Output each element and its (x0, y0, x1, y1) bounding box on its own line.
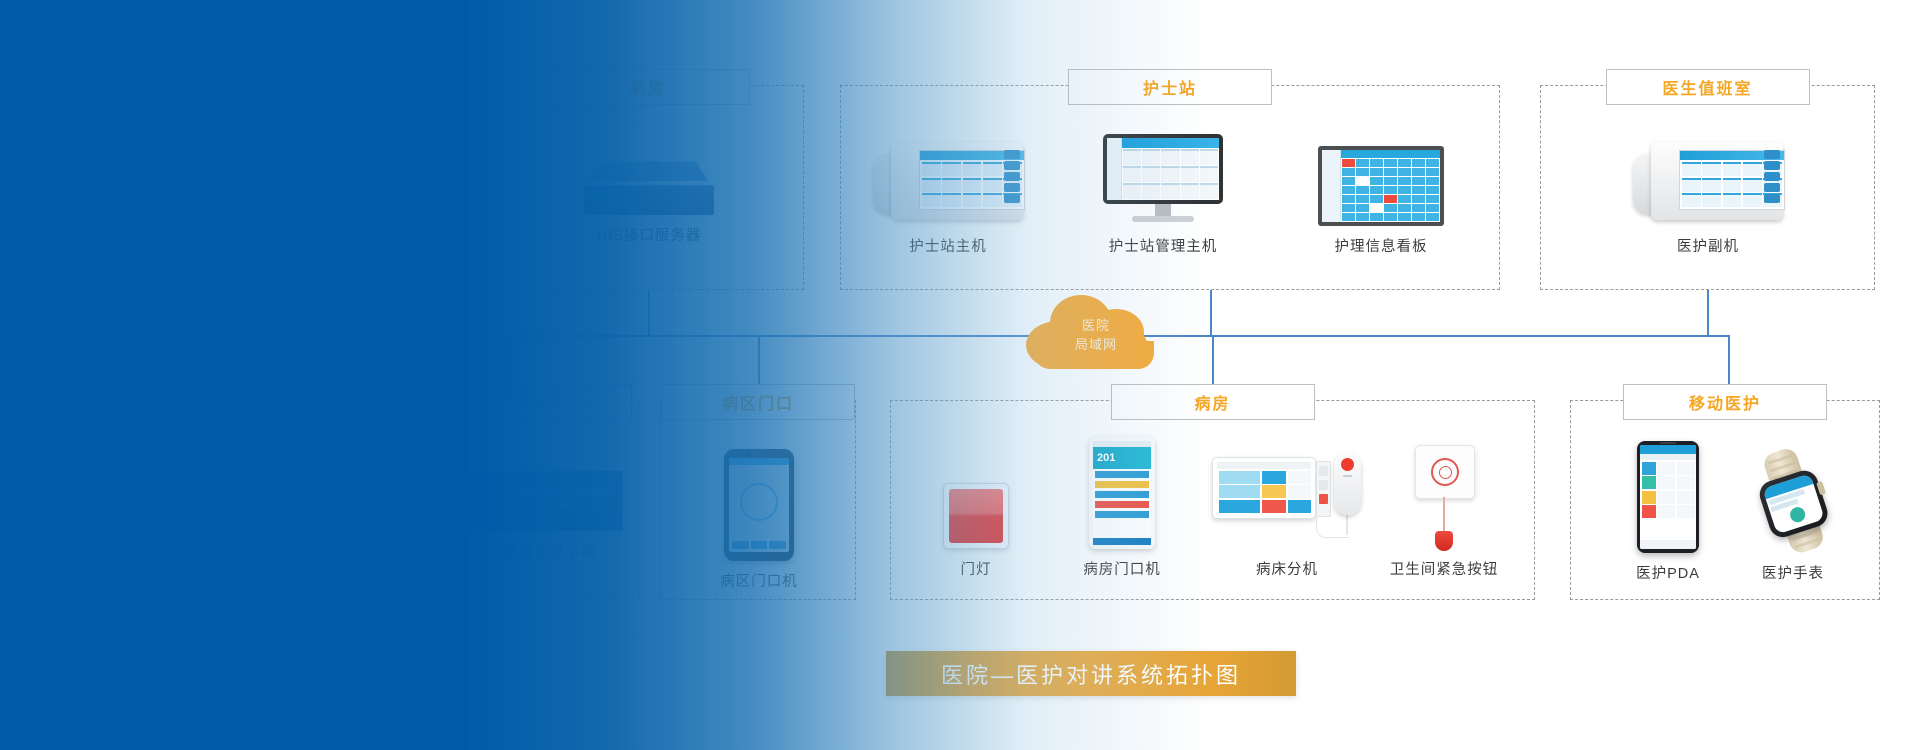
node-ward-entrance-terminal[interactable]: 病区门口机 (689, 443, 829, 591)
group-label-mobile-care: 移动医护 (1623, 384, 1827, 420)
node-caption: 病区门口机 (720, 570, 798, 591)
cloud-label-line2: 局域网 (1075, 335, 1117, 354)
node-ward-door-terminal[interactable]: 201 病房门口机 (1049, 439, 1195, 579)
group-mobile-care: 移动医护 医护PDA (1570, 400, 1880, 600)
desk-phone-terminal-icon (873, 134, 1023, 226)
group-label-server-room: 机房 (546, 69, 750, 105)
group-server-room: 机房 HIS接口服务器 (492, 85, 804, 290)
node-caption: HIS接口服务器 (597, 224, 702, 245)
node-caption: 护理信息看板 (1335, 235, 1428, 256)
connector-server-room-down (648, 290, 650, 336)
group-corridor: 走廊 走廊双面显示屏 (440, 400, 640, 600)
door-light-icon (943, 453, 1009, 549)
node-corridor-double-sided-display[interactable]: 走廊双面显示屏 (459, 459, 625, 561)
group-label-ward-entrance: 病区门口 (661, 384, 855, 420)
cloud-label-line1: 医院 (1082, 316, 1110, 335)
diagram-title-banner: 医院—医护对讲系统拓扑图 (886, 651, 1296, 696)
node-caption: 走廊双面显示屏 (488, 540, 597, 561)
ward-room-number: 201 (1093, 447, 1151, 469)
node-nursing-information-board[interactable]: 护理信息看板 (1291, 134, 1471, 256)
node-caption: 护士站管理主机 (1109, 235, 1218, 256)
node-nurse-station-management-host[interactable]: 护士站管理主机 (1063, 126, 1263, 256)
node-bedside-extension[interactable]: 病床分机 (1201, 441, 1373, 579)
corridor-display-icon (461, 459, 623, 531)
node-caption: 护士站主机 (909, 235, 987, 256)
bedside-unit-icon (1212, 441, 1362, 549)
node-his-interface-server[interactable]: HIS接口服务器 (583, 141, 715, 245)
group-label-ward-room: 病房 (1111, 384, 1315, 420)
node-caption: 医护手表 (1762, 562, 1824, 583)
node-medical-staff-extension[interactable]: 医护副机 (1623, 134, 1793, 256)
node-caption: 病床分机 (1256, 558, 1318, 579)
group-ward-room: 病房 门灯 201 病房门口机 (890, 400, 1535, 600)
group-ward-entrance: 病区门口 病区门口机 (660, 400, 856, 600)
connector-nurse-station-down (1210, 290, 1212, 336)
entrance-tablet-icon (724, 443, 794, 561)
node-door-light[interactable]: 门灯 (913, 453, 1039, 579)
node-caption: 卫生间紧急按钮 (1390, 558, 1499, 579)
mobile-phone-icon (1637, 441, 1699, 553)
node-caption: 医护PDA (1636, 562, 1700, 583)
node-medical-smart-watch[interactable]: 医护手表 (1723, 443, 1863, 583)
topology-diagram-canvas: 医院 局域网 机房 HIS接口服务器 护士站 (0, 0, 1920, 750)
ward-door-tablet-icon: 201 (1089, 439, 1155, 549)
hospital-lan-cloud: 医院 局域网 (1026, 291, 1166, 369)
node-bathroom-emergency-button[interactable]: 卫生间紧急按钮 (1369, 435, 1519, 579)
emergency-pull-cord-icon (1415, 435, 1473, 549)
desk-phone-terminal-icon (1633, 134, 1783, 226)
connector-doctor-room-down (1707, 290, 1709, 336)
rack-server-icon (584, 141, 714, 215)
node-caption: 门灯 (961, 558, 992, 579)
node-caption: 病房门口机 (1083, 558, 1161, 579)
desktop-monitor-icon (1103, 126, 1223, 226)
node-medical-pda[interactable]: 医护PDA (1603, 441, 1733, 583)
group-label-doctor-duty-room: 医生值班室 (1606, 69, 1810, 105)
group-nurse-station: 护士站 (840, 85, 1500, 290)
node-caption: 医护副机 (1677, 235, 1739, 256)
information-board-icon (1318, 134, 1444, 226)
node-nurse-station-host[interactable]: 护士站主机 (863, 134, 1033, 256)
group-label-nurse-station: 护士站 (1068, 69, 1272, 105)
group-doctor-duty-room: 医生值班室 (1540, 85, 1875, 290)
smart-watch-icon (1747, 443, 1839, 553)
cloud-label: 医院 局域网 (1026, 291, 1166, 369)
group-label-corridor: 走廊 (448, 384, 632, 420)
